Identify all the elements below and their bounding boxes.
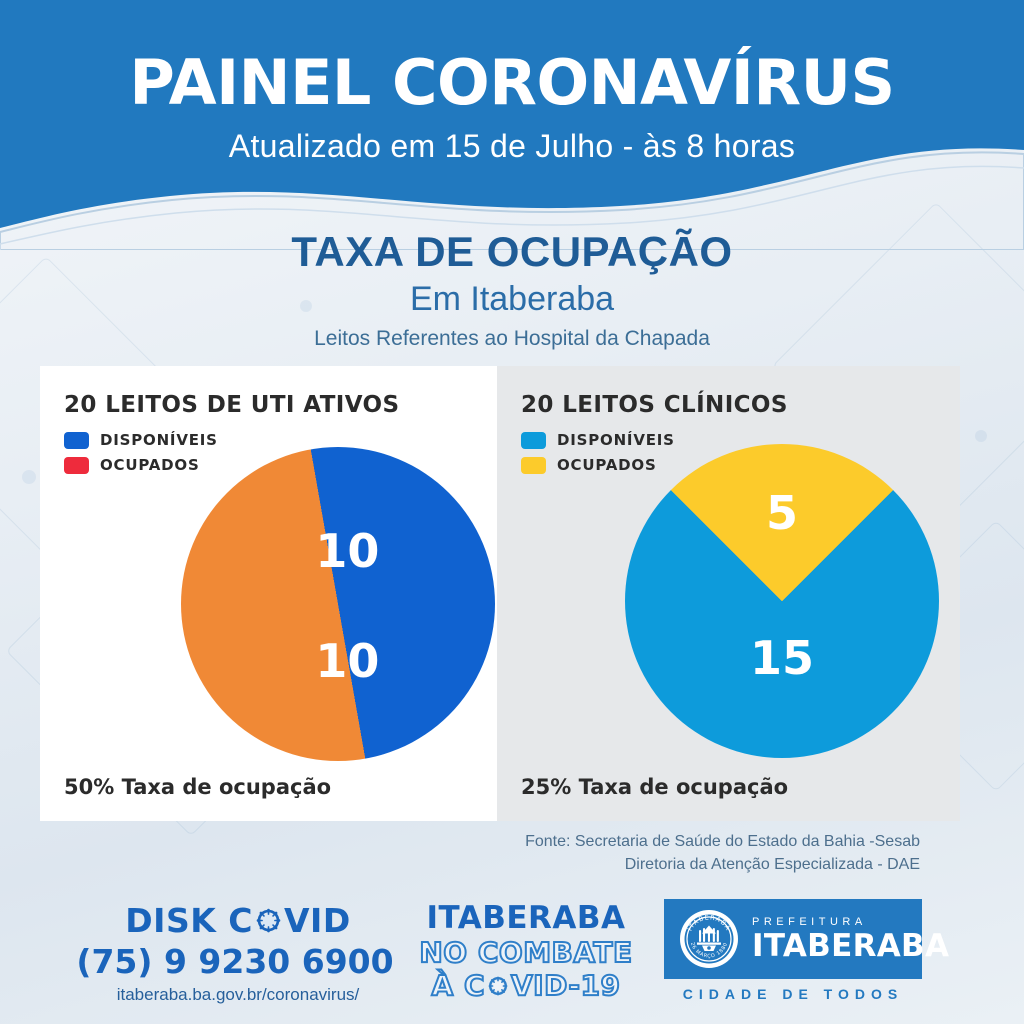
disk-covid-title: DISK C (88, 901, 388, 940)
prefeitura-box: ITABERABA 26 MARÇO 1880 (664, 899, 922, 979)
panel-uti: 20 LEITOS DE UTI ATIVOS DISPONÍVEIS OCUP… (40, 366, 497, 821)
panel-uti-title: 20 LEITOS DE UTI ATIVOS (64, 392, 497, 418)
charts-container: 20 LEITOS DE UTI ATIVOS DISPONÍVEIS OCUP… (40, 366, 960, 821)
page-footer: DISK C (0, 893, 1024, 1024)
background-dot (975, 430, 987, 442)
pie-graphic (625, 444, 939, 758)
prefeitura-small-text: PREFEITURA (752, 917, 949, 928)
disk-covid-phone: (75) 9 9230 6900 (88, 942, 388, 981)
source-attribution: Fonte: Secretaria de Saúde do Estado da … (0, 830, 920, 876)
disk-covid-block: DISK C (88, 901, 388, 1005)
combate-line-3: À C VID-19 (410, 972, 642, 1000)
section-heading: TAXA DE OCUPAÇÃO Em Itaberaba Leitos Ref… (0, 228, 1024, 352)
disk-covid-url[interactable]: itaberaba.ba.gov.br/coronavirus/ (88, 985, 388, 1005)
prefeitura-big-text: ITABERABA (752, 931, 949, 962)
combate-line-1: ITABERABA (410, 903, 642, 934)
section-note: Leitos Referentes ao Hospital da Chapada (0, 325, 1024, 352)
section-city: Em Itaberaba (0, 278, 1024, 321)
panel-uti-footer: 50% Taxa de ocupação (64, 775, 331, 799)
pie-chart-clinicos: 5 15 (625, 444, 939, 758)
section-title: TAXA DE OCUPAÇÃO (0, 228, 1024, 276)
legend-swatch-disponiveis (521, 432, 546, 449)
background-dot (22, 470, 36, 484)
virus-icon (486, 974, 510, 998)
disk-covid-title-after: VID (284, 901, 351, 940)
pie-graphic (181, 447, 495, 761)
legend-swatch-ocupados (64, 457, 89, 474)
virus-icon (255, 907, 282, 934)
legend-swatch-disponiveis (64, 432, 89, 449)
combate-block: ITABERABA NO COMBATE À C (410, 903, 642, 1000)
legend-swatch-ocupados (521, 457, 546, 474)
header-subtitle: Atualizado em 15 de Julho - às 8 horas (0, 128, 1024, 165)
combate-line-3-after: VID-19 (511, 972, 620, 1000)
pie-chart-uti: 10 10 (181, 447, 495, 761)
prefeitura-logo-block: ITABERABA 26 MARÇO 1880 (664, 899, 922, 1002)
page-header: PAINEL CORONAVÍRUS Atualizado em 15 de J… (0, 0, 1024, 250)
panel-clinicos-footer: 25% Taxa de ocupação (521, 775, 788, 799)
prefeitura-tagline: CIDADE DE TODOS (664, 986, 922, 1002)
header-wave-graphic (0, 0, 1024, 250)
disk-covid-title-before: DISK C (125, 901, 253, 940)
phone-number: (75) 9 9230 6900 (76, 942, 393, 981)
panel-clinicos-title: 20 LEITOS CLÍNICOS (521, 392, 960, 418)
source-line-2: Diretoria da Atenção Especializada - DAE (0, 853, 920, 876)
prefeitura-seal-icon: ITABERABA 26 MARÇO 1880 (678, 908, 740, 970)
combate-line-2: NO COMBATE (410, 939, 642, 967)
combate-line-3-before: À C (432, 972, 485, 1000)
prefeitura-wordmark: PREFEITURA ITABERABA (752, 917, 949, 962)
page-title: PAINEL CORONAVÍRUS (0, 52, 1024, 114)
panel-clinicos: 20 LEITOS CLÍNICOS DISPONÍVEIS OCUPADOS … (497, 366, 960, 821)
source-line-1: Fonte: Secretaria de Saúde do Estado da … (0, 830, 920, 853)
infographic-page: PAINEL CORONAVÍRUS Atualizado em 15 de J… (0, 0, 1024, 1024)
